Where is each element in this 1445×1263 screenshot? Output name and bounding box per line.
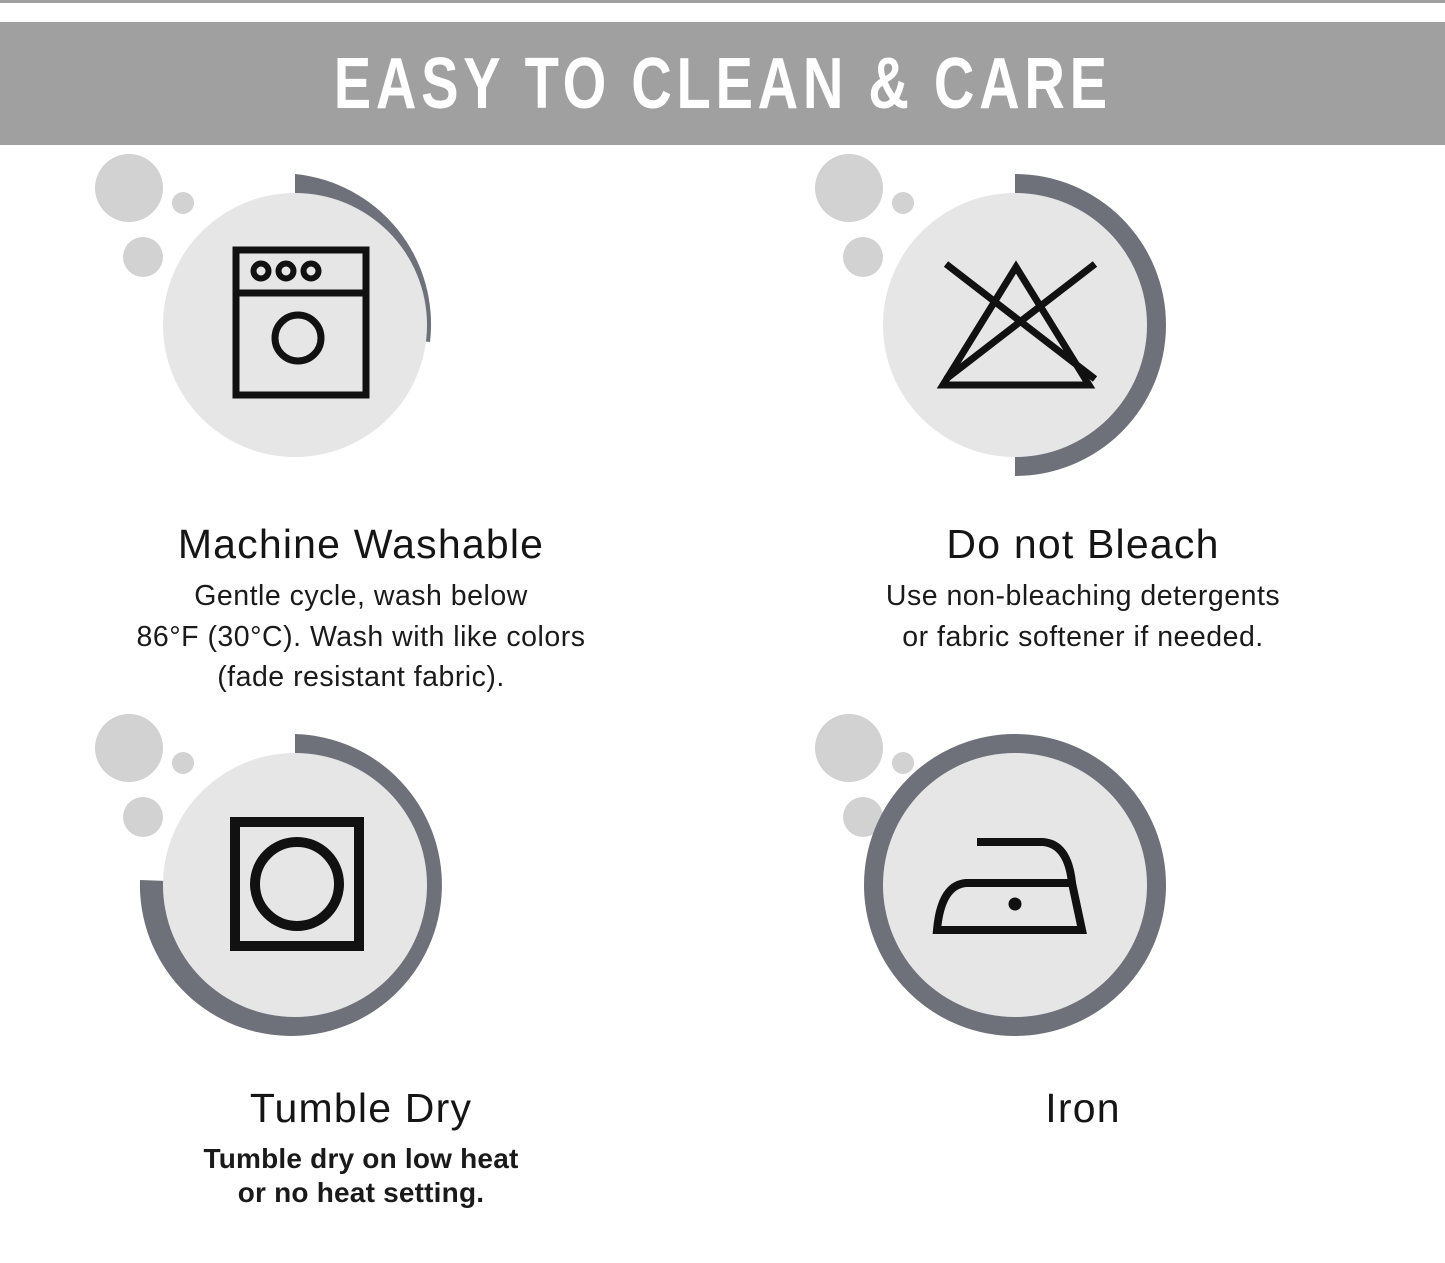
badge-machine-washable	[90, 145, 490, 505]
care-card-iron: Iron	[722, 705, 1444, 1140]
do-not-bleach-icon	[810, 145, 1210, 505]
care-card-title: Machine Washable	[0, 523, 722, 566]
care-card-title: Do not Bleach	[722, 523, 1444, 566]
page-title: EASY TO CLEAN & CARE	[333, 48, 1111, 120]
badge-iron	[810, 705, 1210, 1065]
care-instructions-infographic: EASY TO CLEAN & CARE	[0, 0, 1445, 1263]
care-icon-grid: Machine Washable Gentle cycle, wash belo…	[0, 145, 1445, 1263]
badge-tumble-dry	[90, 705, 490, 1065]
tumble-dry-icon	[90, 705, 490, 1065]
top-hairline-divider	[0, 0, 1445, 3]
header-banner: EASY TO CLEAN & CARE	[0, 22, 1445, 145]
care-card-title: Tumble Dry	[0, 1087, 722, 1130]
care-card-do-not-bleach: Do not Bleach Use non-bleaching detergen…	[722, 145, 1444, 657]
badge-do-not-bleach	[810, 145, 1210, 505]
care-card-title: Iron	[722, 1087, 1444, 1130]
care-card-body: Tumble dry on low heat or no heat settin…	[31, 1142, 691, 1210]
care-card-body: Gentle cycle, wash below 86°F (30°C). Wa…	[31, 576, 691, 697]
care-card-body: Use non-bleaching detergents or fabric s…	[753, 576, 1413, 657]
washing-machine-icon	[90, 145, 490, 505]
iron-icon	[810, 705, 1210, 1065]
care-card-machine-washable: Machine Washable Gentle cycle, wash belo…	[0, 145, 722, 697]
care-card-tumble-dry: Tumble Dry Tumble dry on low heat or no …	[0, 705, 722, 1210]
